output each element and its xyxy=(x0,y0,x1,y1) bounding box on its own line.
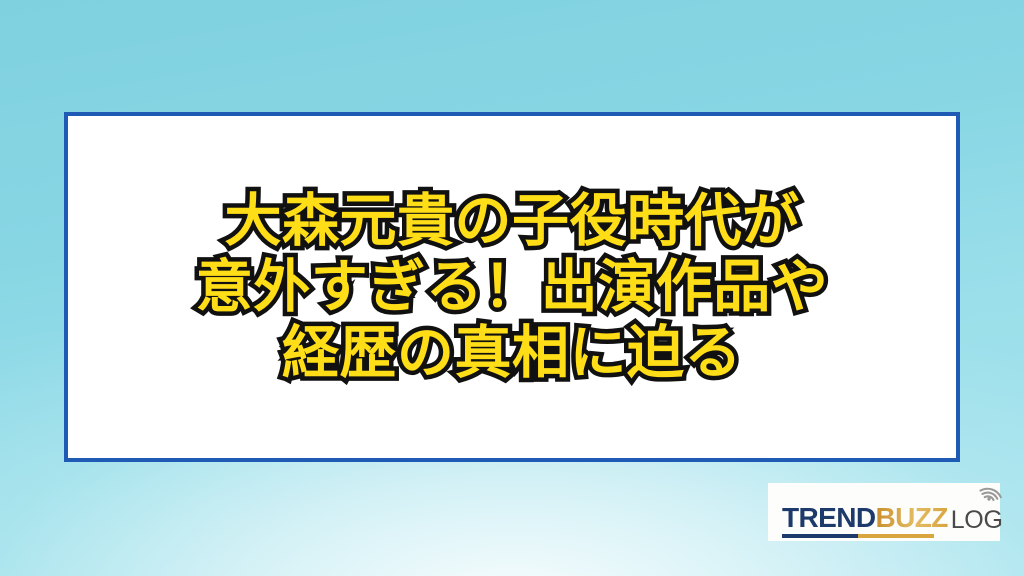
brand-logo-lockup: TREND BUZZ LOG xyxy=(782,492,1003,532)
headline-text: 大森元貴の子役時代が 意外すぎる！出演作品や 経歴の真相に迫る xyxy=(186,188,839,386)
logo-text-trend: TREND xyxy=(782,504,875,532)
headline-line-3: 経歴の真相に迫る xyxy=(196,320,829,386)
logo-text-log: LOG xyxy=(951,508,1003,533)
headline-card: 大森元貴の子役時代が 意外すぎる！出演作品や 経歴の真相に迫る xyxy=(64,112,960,462)
headline-line-2: 意外すぎる！出演作品や xyxy=(196,254,829,320)
logo-text-buzz: BUZZ xyxy=(875,504,947,532)
wifi-signal-icon xyxy=(976,479,1002,501)
logo-underline-bar xyxy=(782,534,934,538)
brand-logo-badge: TREND BUZZ LOG xyxy=(768,483,1000,541)
thumbnail-canvas: 大森元貴の子役時代が 意外すぎる！出演作品や 経歴の真相に迫る TREND BU… xyxy=(0,0,1024,576)
headline-line-1: 大森元貴の子役時代が xyxy=(196,188,829,254)
